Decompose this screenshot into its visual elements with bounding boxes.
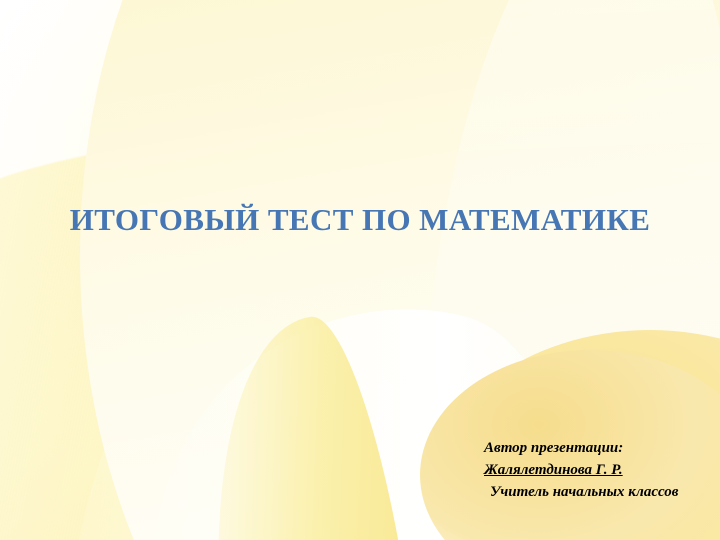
presentation-title-slide: ИТОГОВЫЙ ТЕСТ ПО МАТЕМАТИКЕ Автор презен… <box>0 0 720 540</box>
author-credit-block: Автор презентации: Жалялетдинова Г. Р. У… <box>484 437 716 503</box>
author-name: Жалялетдинова Г. Р. <box>484 459 716 481</box>
author-label: Автор презентации: <box>484 437 716 459</box>
pale-yellow-blade <box>179 309 427 540</box>
slide-title: ИТОГОВЫЙ ТЕСТ ПО МАТЕМАТИКЕ <box>48 203 672 238</box>
author-role: Учитель начальных классов <box>484 481 716 503</box>
yellow-glow <box>420 330 720 540</box>
